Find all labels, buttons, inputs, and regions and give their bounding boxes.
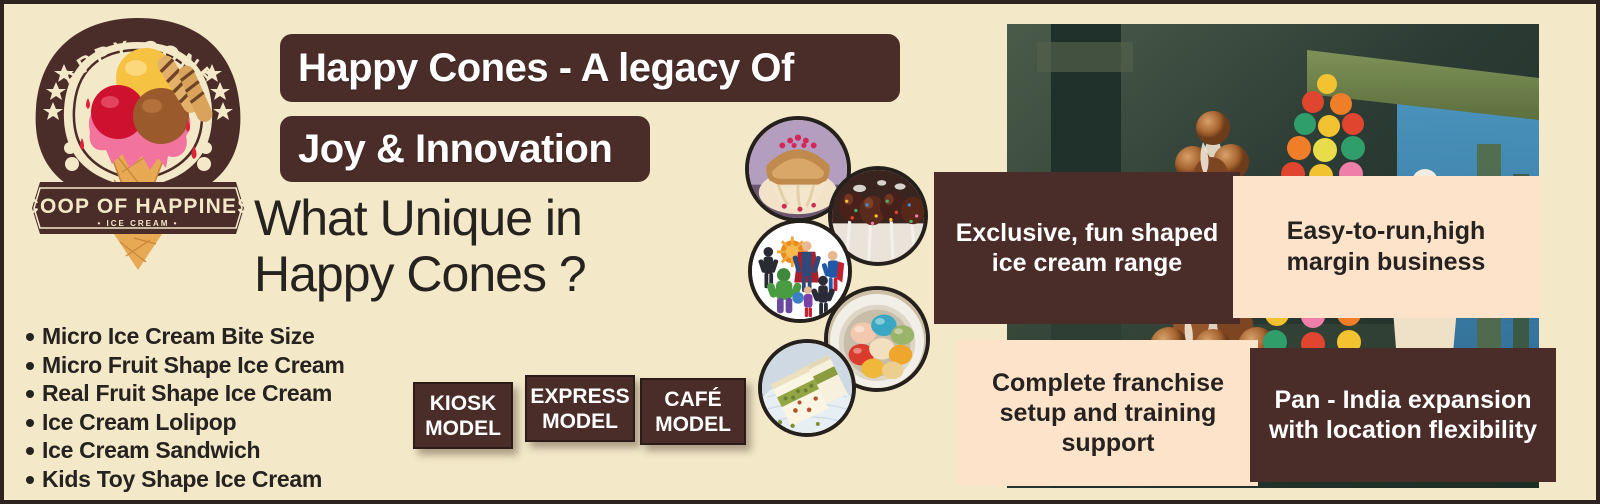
pistachio-layered-cake-slice-photo [758, 339, 856, 437]
logo-ribbon-text: SCOOP OF HAPPINESS [18, 195, 258, 218]
list-item: Ice Cream Sandwich [26, 436, 426, 465]
model-box-kiosk: KIOSK MODEL [413, 382, 513, 449]
model-label-line2: MODEL [542, 410, 618, 433]
feature-box-pan-india-expansion: Pan - India expansion with location flex… [1250, 348, 1556, 482]
model-label-line1: KIOSK [430, 392, 497, 415]
list-item: Real Fruit Shape Ice Cream [26, 379, 426, 408]
headline-ribbon-line2: Joy & Innovation [280, 116, 650, 182]
model-label-line1: CAFÉ [664, 388, 721, 411]
feature-box-exclusive-range: Exclusive, fun shaped ice cream range [934, 172, 1240, 324]
promotional-banner: HAPPY CONES [0, 0, 1600, 504]
feature-box-franchise-support: Complete franchise setup and training su… [958, 340, 1258, 486]
unique-features-list: Micro Ice Cream Bite Size Micro Fruit Sh… [26, 322, 426, 493]
logo-sub-text: • ICE CREAM • [98, 219, 179, 228]
model-label-line2: MODEL [425, 417, 501, 440]
model-box-cafe: CAFÉ MODEL [640, 378, 746, 445]
list-item: Micro Ice Cream Bite Size [26, 322, 426, 351]
list-item: Ice Cream Lolipop [26, 408, 426, 437]
list-item: Micro Fruit Shape Ice Cream [26, 351, 426, 380]
headline-ribbon-line1: Happy Cones - A legacy Of [280, 34, 900, 102]
question-heading: What Unique in Happy Cones ? [254, 190, 724, 302]
happy-cones-logo: HAPPY CONES [18, 12, 258, 272]
question-line-2: Happy Cones ? [254, 246, 724, 302]
question-line-1: What Unique in [254, 190, 724, 246]
model-label-line2: MODEL [655, 413, 731, 436]
model-box-express: EXPRESS MODEL [525, 375, 635, 442]
feature-box-easy-to-run: Easy-to-run,high margin business [1233, 176, 1539, 318]
list-item: Kids Toy Shape Ice Cream [26, 465, 426, 494]
model-label-line1: EXPRESS [530, 385, 629, 408]
